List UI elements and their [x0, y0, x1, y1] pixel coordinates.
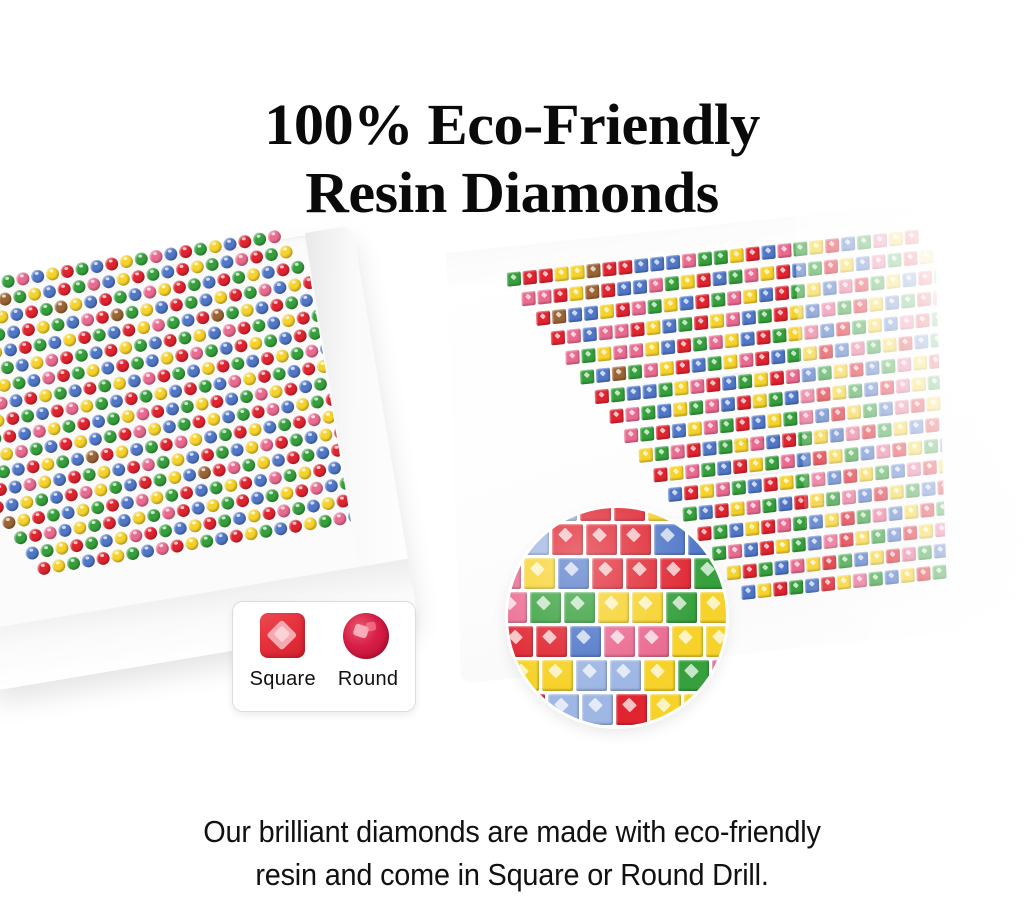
drill-bead: [700, 483, 714, 498]
drill-bead: [249, 249, 264, 264]
drill-bead: [113, 290, 128, 305]
drill-bead: [266, 316, 281, 331]
drill-bead: [71, 279, 86, 294]
drill-bead: [135, 493, 150, 508]
drill-bead: [570, 265, 584, 280]
drill-bead: [112, 376, 127, 391]
drill-bead: [269, 298, 284, 313]
drill-bead: [194, 483, 209, 498]
drill-bead: [234, 252, 249, 267]
drill-bead: [144, 439, 159, 454]
drill-bead: [36, 320, 51, 335]
drill-bead: [288, 519, 303, 534]
drill-bead: [81, 553, 96, 568]
drill-bead: [166, 315, 181, 330]
drill-bead: [192, 328, 207, 343]
drill-bead: [770, 370, 784, 385]
drill-bead: [0, 360, 15, 375]
drill-bead: [254, 300, 269, 315]
drill-bead: [624, 428, 638, 443]
drill-bead: [3, 342, 18, 357]
drill-bead: [251, 404, 266, 419]
drill-bead: [704, 420, 718, 435]
drill-bead: [261, 265, 276, 280]
drill-bead: [43, 525, 58, 540]
drill-bead: [41, 370, 56, 385]
drill-bead: [20, 408, 35, 423]
drill-bead: [26, 459, 41, 474]
drill-bead: [98, 292, 113, 307]
drill-bead: [203, 430, 218, 445]
drill-bead: [64, 487, 79, 502]
drill-bead: [184, 295, 199, 310]
drill-bead: [109, 394, 124, 409]
drill-bead: [298, 379, 313, 394]
drill-bead: [569, 286, 583, 301]
drill-bead: [91, 414, 106, 429]
drill-bead: [29, 441, 44, 456]
drill-bead: [173, 434, 188, 449]
drill-bead: [130, 356, 145, 371]
drill-bead: [580, 369, 594, 384]
drill-bead: [568, 307, 582, 322]
drill-bead: [296, 311, 311, 326]
drill-bead: [164, 488, 179, 503]
drill-bead: [233, 425, 248, 440]
drill-bead: [754, 372, 768, 387]
drill-bead: [17, 426, 32, 441]
drill-bead: [134, 252, 149, 267]
drill-bead: [90, 500, 105, 515]
drill-bead: [27, 287, 42, 302]
drill-bead: [219, 341, 234, 356]
drill-bead: [327, 461, 342, 476]
drill-bead: [630, 322, 644, 337]
drill-bead: [789, 579, 803, 594]
drill-bead: [521, 291, 535, 306]
drill-bead: [613, 345, 627, 360]
drill-bead: [707, 356, 721, 371]
drill-bead: [719, 418, 733, 433]
drill-bead: [294, 483, 309, 498]
drill-bead: [290, 260, 305, 275]
drill-bead: [649, 277, 663, 292]
drill-bead: [583, 327, 597, 342]
drill-bead: [70, 452, 85, 467]
drill-bead: [5, 497, 20, 512]
drill-bead: [645, 341, 659, 356]
drill-bead: [0, 309, 9, 324]
drill-bead: [759, 287, 773, 302]
drill-bead: [87, 518, 102, 533]
drill-bead: [306, 499, 321, 514]
drill-bead: [247, 422, 262, 437]
drill-bead: [31, 510, 46, 525]
drill-bead: [44, 353, 59, 368]
drill-bead: [150, 404, 165, 419]
drill-bead: [658, 382, 672, 397]
drill-bead: [239, 389, 254, 404]
drill-bead: [272, 280, 287, 295]
drill-bead: [114, 531, 129, 546]
drill-bead: [786, 369, 800, 384]
drill-bead: [25, 546, 40, 561]
drill-bead: [755, 351, 769, 366]
drill-bead: [324, 478, 339, 493]
drill-bead: [744, 267, 758, 282]
drill-bead: [318, 514, 333, 529]
drill-bead: [64, 401, 79, 416]
drill-bead: [694, 315, 708, 330]
drill-bead: [110, 307, 125, 322]
drill-bead: [247, 508, 262, 523]
drill-bead: [218, 427, 233, 442]
drill-bead: [85, 363, 100, 378]
drill-bead: [297, 465, 312, 480]
drill-bead: [84, 536, 99, 551]
drill-bead: [244, 440, 259, 455]
drill-bead: [199, 534, 214, 549]
drill-bead: [212, 463, 227, 478]
drill-bead: [253, 473, 268, 488]
closeup-gloss: [508, 508, 726, 726]
drill-bead: [275, 349, 290, 364]
drill-bead: [727, 290, 741, 305]
drill-bead: [278, 331, 293, 346]
drill-bead: [69, 538, 84, 553]
drill-bead: [110, 548, 125, 563]
drill-bead: [286, 364, 301, 379]
drill-bead: [735, 416, 749, 431]
drill-bead: [552, 309, 566, 324]
drill-bead: [116, 272, 131, 287]
drill-bead: [617, 281, 631, 296]
drill-bead: [304, 344, 319, 359]
drill-bead: [138, 475, 153, 490]
drill-bead: [246, 267, 261, 282]
drill-bead: [30, 269, 45, 284]
drill-bead: [523, 270, 537, 285]
drill-bead: [279, 486, 294, 501]
drill-bead: [653, 467, 667, 482]
drill-bead: [618, 260, 632, 275]
drill-bead: [117, 513, 132, 528]
drill-bead: [202, 516, 217, 531]
drill-bead: [776, 264, 790, 279]
drill-bead: [158, 523, 173, 538]
drill-bead: [40, 543, 55, 558]
drill-bead: [748, 478, 762, 493]
drill-bead: [22, 477, 37, 492]
drill-bead: [223, 478, 238, 493]
drill-bead: [716, 482, 730, 497]
drill-bead: [777, 243, 791, 258]
drill-bead: [191, 414, 206, 429]
drill-bead: [698, 251, 712, 266]
drill-bead: [42, 284, 57, 299]
drill-bead: [739, 352, 753, 367]
drill-bead: [171, 366, 186, 381]
drill-bead: [286, 450, 301, 465]
drill-bead: [28, 528, 43, 543]
drill-bead: [717, 460, 731, 475]
drill-bead: [706, 377, 720, 392]
drill-bead: [693, 336, 707, 351]
drill-bead: [47, 335, 62, 350]
drill-bead: [760, 266, 774, 281]
drill-bead: [1, 274, 16, 289]
drill-bead: [232, 511, 247, 526]
drill-bead: [628, 364, 642, 379]
drill-bead: [236, 407, 251, 422]
drill-bead: [162, 419, 177, 434]
drill-bead: [280, 399, 295, 414]
drill-bead: [596, 367, 610, 382]
drill-bead: [291, 501, 306, 516]
drill-bead: [68, 297, 83, 312]
drill-bead: [153, 386, 168, 401]
drill-bead: [219, 254, 234, 269]
drill-bead: [146, 508, 161, 523]
drill-bead: [208, 239, 223, 254]
drill-bead: [179, 485, 194, 500]
drill-bead: [82, 381, 97, 396]
drill-bead: [221, 409, 236, 424]
drill-bead: [233, 338, 248, 353]
drill-bead: [152, 472, 167, 487]
drill-bead: [256, 455, 271, 470]
drill-bead: [15, 271, 30, 286]
drill-bead: [156, 455, 171, 470]
drill-bead: [53, 386, 68, 401]
drill-bead: [536, 310, 550, 325]
drill-bead: [220, 496, 235, 511]
drill-bead: [26, 373, 41, 388]
drill-bead: [640, 426, 654, 441]
drill-bead: [67, 470, 82, 485]
drill-bead: [258, 283, 273, 298]
drill-bead: [299, 293, 314, 308]
drill-bead: [88, 432, 103, 447]
drill-bead: [101, 274, 116, 289]
drill-bead: [783, 411, 797, 426]
drill-bead: [235, 493, 250, 508]
drill-bead: [679, 295, 693, 310]
drill-bead: [178, 244, 193, 259]
drill-bead: [145, 267, 160, 282]
drill-bead: [745, 246, 759, 261]
drill-bead: [315, 445, 330, 460]
drill-bead: [47, 421, 62, 436]
drill-bead: [507, 271, 521, 286]
drill-bead: [216, 272, 231, 287]
drill-bead: [59, 350, 74, 365]
page-title: 100% Eco-Friendly Resin Diamonds: [0, 91, 1024, 228]
drill-bead: [174, 348, 189, 363]
drill-bead: [100, 361, 115, 376]
drill-bead: [761, 245, 775, 260]
drill-bead: [318, 427, 333, 442]
drill-bead: [94, 396, 109, 411]
drill-bead: [123, 477, 138, 492]
drill-bead: [0, 431, 2, 446]
drill-bead: [204, 343, 219, 358]
drill-bead: [277, 417, 292, 432]
drill-bead: [581, 348, 595, 363]
drill-bead: [0, 500, 5, 515]
drill-bead: [292, 415, 307, 430]
drill-bead: [238, 475, 253, 490]
drill-bead: [36, 561, 51, 576]
drill-bead: [775, 285, 789, 300]
drill-bead: [159, 437, 174, 452]
drill-bead: [295, 397, 310, 412]
drill-bead: [656, 425, 670, 440]
drill-bead: [0, 327, 6, 342]
drill-bead: [169, 297, 184, 312]
drill-bead: [741, 584, 755, 599]
drill-bead: [567, 328, 581, 343]
drill-bead: [83, 294, 98, 309]
drill-bead: [773, 307, 787, 322]
drill-bead: [103, 343, 118, 358]
drill-bead: [244, 526, 259, 541]
drill-bead: [129, 442, 144, 457]
drill-bead: [50, 317, 65, 332]
drill-bead: [127, 373, 142, 388]
drill-bead: [93, 482, 108, 497]
drill-bead: [75, 503, 90, 518]
drill-bead: [160, 264, 175, 279]
drill-bead: [756, 330, 770, 345]
drill-bead: [227, 374, 242, 389]
drill-bead: [79, 399, 94, 414]
drill-bead: [289, 346, 304, 361]
drill-bead: [724, 333, 738, 348]
drill-bead: [586, 263, 600, 278]
headline-line-2: Resin Diamonds: [0, 159, 1024, 227]
drill-bead: [276, 503, 291, 518]
drill-bead: [133, 338, 148, 353]
drill-bead: [132, 424, 147, 439]
drill-bead: [131, 269, 146, 284]
drill-bead: [601, 282, 615, 297]
drill-bead: [614, 323, 628, 338]
drill-bead: [95, 310, 110, 325]
drill-bead: [665, 276, 679, 291]
drill-bead: [251, 318, 266, 333]
drill-bead: [197, 465, 212, 480]
drill-bead: [0, 396, 9, 411]
drill-bead: [205, 498, 220, 513]
drill-bead: [76, 416, 91, 431]
drill-bead: [668, 487, 682, 502]
drill-bead: [260, 351, 275, 366]
drill-bead: [677, 338, 691, 353]
drill-bead: [684, 485, 698, 500]
drill-bead: [553, 288, 567, 303]
drill-bead: [0, 345, 3, 360]
drill-bead: [722, 375, 736, 390]
drill-bead: [23, 391, 38, 406]
drill-bead: [289, 432, 304, 447]
drill-bead: [284, 295, 299, 310]
drill-bead: [765, 455, 779, 470]
square-gem-icon: [260, 613, 305, 658]
drill-bead: [647, 299, 661, 314]
drill-bead: [75, 261, 90, 276]
drill-bead: [265, 488, 280, 503]
drill-bead: [183, 381, 198, 396]
drill-bead: [268, 470, 283, 485]
drill-bead: [37, 475, 52, 490]
drill-bead: [62, 332, 77, 347]
drill-bead: [771, 349, 785, 364]
drill-bead: [761, 519, 775, 534]
drill-bead: [128, 287, 143, 302]
drill-bead: [225, 305, 240, 320]
drill-bead: [124, 305, 139, 320]
drill-bead: [675, 359, 689, 374]
drill-bead: [612, 366, 626, 381]
drill-bead: [136, 320, 151, 335]
drill-bead: [111, 462, 126, 477]
drill-bead: [729, 248, 743, 263]
drill-bead: [19, 495, 34, 510]
drill-bead: [0, 482, 8, 497]
drill-bead: [120, 495, 135, 510]
drill-bead: [229, 529, 244, 544]
drill-bead: [142, 285, 157, 300]
drill-bead: [626, 385, 640, 400]
drill-bead: [264, 247, 279, 262]
drill-bead: [231, 270, 246, 285]
drill-bead: [170, 539, 185, 554]
drill-bead: [170, 452, 185, 467]
drill-bead: [662, 318, 676, 333]
drill-bead: [201, 275, 216, 290]
drill-bead: [666, 255, 680, 270]
drill-bead: [9, 307, 24, 322]
drill-bead: [742, 310, 756, 325]
drill-bead: [175, 262, 190, 277]
drill-bead: [210, 308, 225, 323]
drill-bead: [701, 462, 715, 477]
drill-bead: [259, 437, 274, 452]
drill-bead: [669, 465, 683, 480]
drill-bead: [777, 517, 791, 532]
drill-bead: [138, 389, 153, 404]
drill-bead: [537, 289, 551, 304]
drill-bead: [642, 384, 656, 399]
drill-bead: [1, 515, 16, 530]
drill-bead: [54, 541, 69, 556]
drill-bead: [685, 464, 699, 479]
drill-bead: [743, 289, 757, 304]
drill-bead: [763, 477, 777, 492]
drill-bead: [312, 463, 327, 478]
drill-bead: [119, 254, 134, 269]
drill-bead: [237, 321, 252, 336]
drill-bead: [80, 312, 95, 327]
drill-bead: [224, 392, 239, 407]
drill-bead: [633, 279, 647, 294]
drill-bead: [252, 232, 267, 247]
drill-bead: [105, 498, 120, 513]
drill-bead: [250, 491, 265, 506]
drill-bead: [34, 492, 49, 507]
drill-bead: [781, 454, 795, 469]
